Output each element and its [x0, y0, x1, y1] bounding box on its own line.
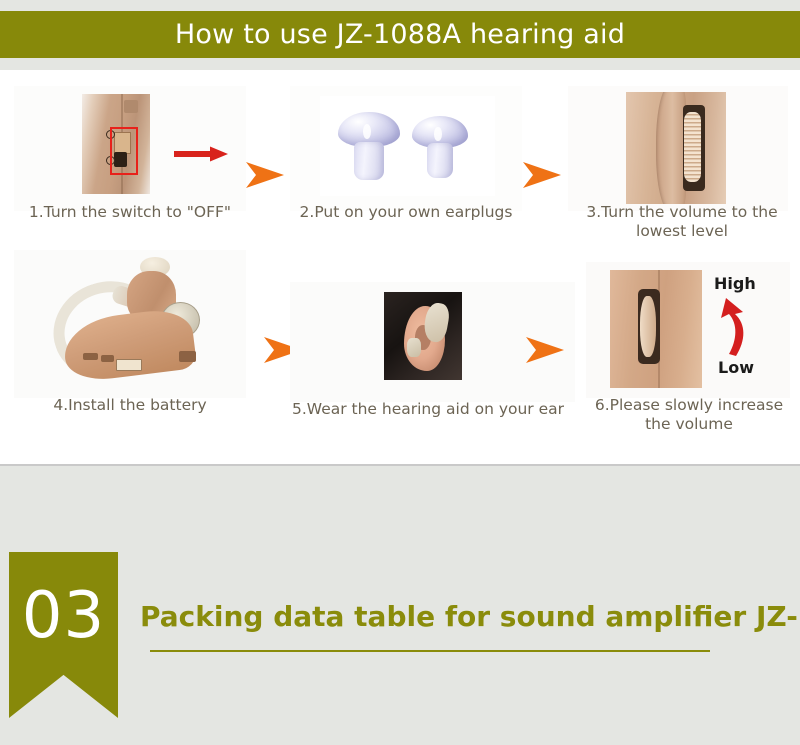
- step-caption-2: 2.Put on your own earplugs: [282, 203, 530, 222]
- page-title: How to use JZ-1088A hearing aid: [175, 19, 625, 50]
- header-banner: How to use JZ-1088A hearing aid: [0, 11, 800, 58]
- banner-underline-strip: [0, 58, 800, 70]
- step-caption-6-line2: the volume: [580, 415, 798, 434]
- volume-wheel-closeup-photo: [610, 270, 702, 388]
- step-caption-3: 3.Turn the volume to the lowest level: [568, 203, 796, 241]
- step-panel-1: [14, 86, 246, 211]
- step-caption-5: 5.Wear the hearing aid on your ear: [278, 400, 578, 419]
- section-title: Packing data table for sound amplifier J…: [140, 600, 800, 633]
- red-arrow-icon: [174, 146, 228, 162]
- step-caption-6: 6.Please slowly increase the volume: [580, 396, 798, 434]
- step-panel-6: High Low: [586, 262, 790, 398]
- step-panel-2: [290, 86, 522, 211]
- earplugs-photo: [320, 96, 495, 196]
- steps-section: 1.Turn the switch to "OFF" 2.Put on your…: [0, 70, 800, 465]
- bte-hearing-aid-photo: [38, 254, 224, 396]
- volume-increase-arrow-icon: [712, 296, 754, 358]
- step-caption-1: 1.Turn the switch to "OFF": [14, 203, 246, 222]
- section-title-underline: [150, 650, 710, 652]
- product-detail-page: How to use JZ-1088A hearing aid 1.Turn t…: [0, 0, 800, 745]
- step-caption-4: 4.Install the battery: [14, 396, 246, 415]
- step-panel-3: [568, 86, 788, 211]
- orange-arrow-icon-1: [244, 160, 286, 190]
- section-number-ribbon: 03: [9, 552, 118, 718]
- orange-arrow-icon-2: [521, 160, 563, 190]
- section-number: 03: [9, 552, 118, 680]
- volume-low-label: Low: [718, 358, 754, 377]
- hearing-aid-switch-photo: [82, 94, 150, 194]
- volume-wheel-photo: [626, 92, 726, 204]
- top-grey-strip: [0, 0, 800, 11]
- step-caption-3-line1: 3.Turn the volume to the: [568, 203, 796, 222]
- red-highlight-box: [110, 127, 138, 175]
- earplug-right: [412, 116, 468, 178]
- step-panel-4: [14, 250, 246, 398]
- volume-high-label: High: [714, 274, 756, 293]
- step-caption-3-line2: lowest level: [568, 222, 796, 241]
- step-caption-6-line1: 6.Please slowly increase: [580, 396, 798, 415]
- earplug-left: [338, 112, 400, 180]
- ear-wearing-hearing-aid-photo: [384, 292, 462, 380]
- orange-arrow-icon-4: [524, 335, 566, 365]
